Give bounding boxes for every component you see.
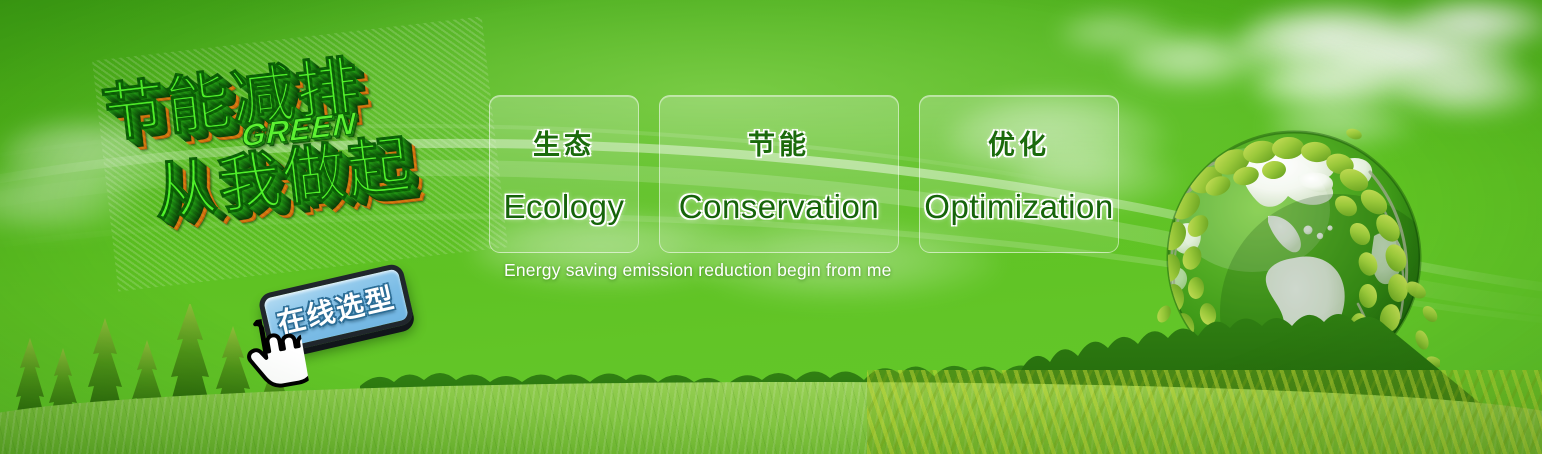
feature-card-title-cn: 优化 — [988, 123, 1050, 162]
leafy-earth-globe-icon — [1148, 118, 1440, 410]
cloud-icon — [1236, 6, 1446, 80]
feature-card-title-cn: 生态 — [533, 123, 595, 162]
cloud-icon — [1404, 0, 1542, 50]
online-selection-button[interactable]: 在线选型 — [257, 262, 415, 356]
cloud-icon — [1268, 104, 1418, 148]
cta-button-label: 在线选型 — [257, 262, 415, 356]
headline-accent-word: GREEN — [241, 105, 357, 154]
green-banner: 节能减排 GREEN 从我做起 生态 Ecology 节能 Conservati… — [0, 0, 1542, 454]
cloud-icon — [1120, 34, 1270, 90]
headline-3d: 节能减排 GREEN 从我做起 — [92, 17, 508, 292]
headline-line-1: 节能减排 — [97, 35, 366, 155]
feature-card-conservation[interactable]: 节能 Conservation — [659, 95, 899, 253]
treeline — [0, 304, 1542, 454]
tagline: Energy saving emission reduction begin f… — [504, 260, 892, 281]
feature-card-ecology[interactable]: 生态 Ecology — [489, 95, 639, 253]
cloud-icon — [0, 120, 188, 192]
cloud-icon — [1058, 12, 1178, 56]
cloud-icon — [1252, 58, 1422, 114]
headline-line-2: 从我做起 — [148, 114, 417, 234]
headline-texture — [92, 17, 508, 292]
grass-texture — [0, 382, 1542, 454]
feature-card-optimization[interactable]: 优化 Optimization — [919, 95, 1119, 253]
feature-card-title-en: Optimization — [924, 188, 1113, 226]
leaf-litter — [867, 370, 1542, 454]
feature-card-title-en: Conservation — [679, 188, 879, 226]
cloud-icon — [0, 170, 140, 234]
cloud-icon — [1330, 28, 1520, 90]
feature-card-title-en: Ecology — [504, 188, 625, 226]
cloud-icon — [1396, 62, 1542, 118]
feature-card-title-cn: 节能 — [748, 123, 810, 162]
grass-field-icon — [0, 382, 1542, 454]
feature-card-group: 生态 Ecology 节能 Conservation 优化 Optimizati… — [489, 95, 1119, 253]
